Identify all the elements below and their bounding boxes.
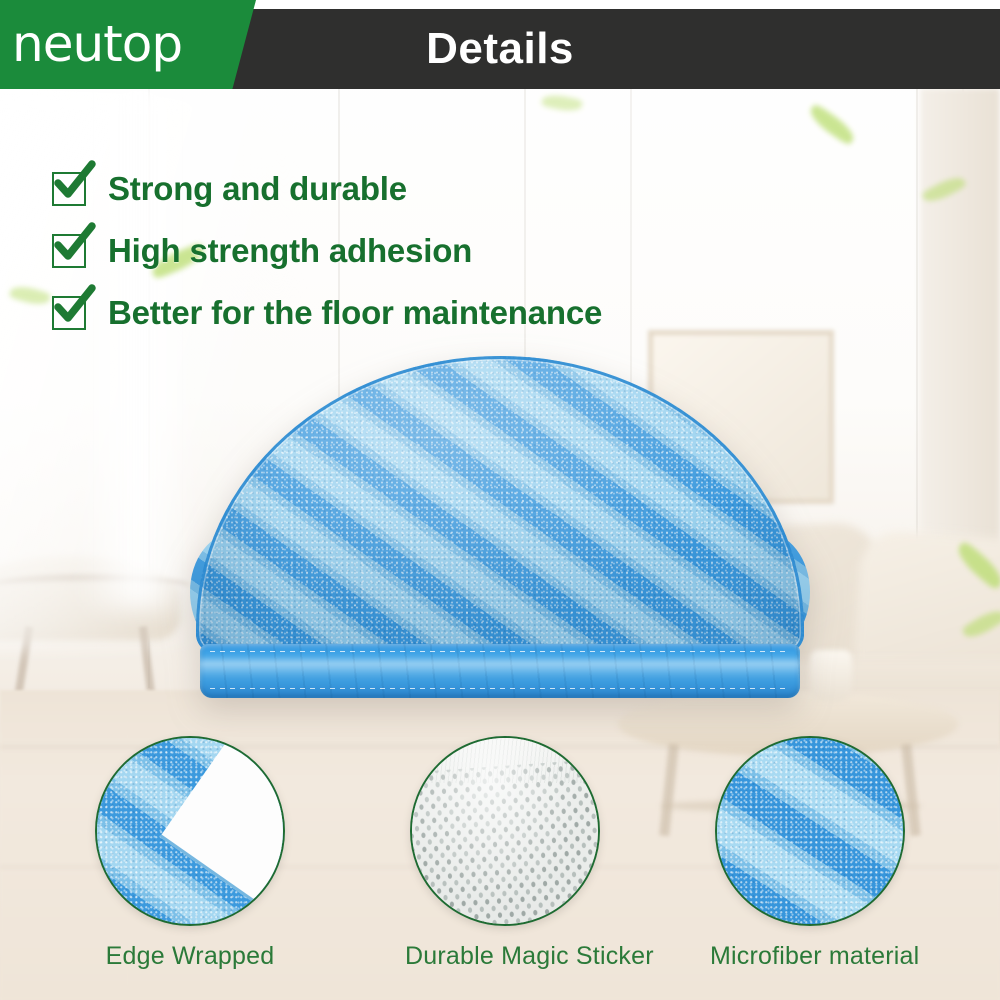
list-item: Better for the floor maintenance	[52, 282, 602, 344]
list-item: High strength adhesion	[52, 220, 602, 282]
closeup-circle-magic-sticker	[410, 736, 600, 926]
checkbox-check-icon	[52, 172, 86, 206]
product-detail-infographic: Details neutop Strong and durable High s…	[0, 0, 1000, 1000]
closeup-circle-edge-wrapped	[95, 736, 285, 926]
list-item: Strong and durable	[52, 158, 602, 220]
checkbox-check-icon	[52, 296, 86, 330]
velcro-highlight	[412, 738, 598, 924]
brand-logo-banner: neutop	[0, 0, 256, 89]
feature-label: Strong and durable	[108, 170, 407, 208]
detail-caption: Microfiber material	[710, 942, 910, 971]
detail-caption: Edge Wrapped	[90, 942, 290, 971]
feature-label: Better for the floor maintenance	[108, 294, 602, 332]
product-image-mop-pad	[196, 356, 804, 700]
hem-highlight	[200, 660, 800, 676]
hem-stitch-line	[210, 651, 790, 652]
hem-stitch-line	[210, 688, 790, 689]
detail-callout-microfiber: Microfiber material	[710, 736, 910, 971]
table-vase	[810, 650, 852, 702]
fabric-speckle-overlay	[715, 736, 905, 926]
hook-and-loop-surface	[412, 738, 598, 924]
brand-logo-text: neutop	[0, 15, 182, 73]
detail-callout-magic-sticker: Durable Magic Sticker	[405, 736, 605, 971]
feature-list: Strong and durable High strength adhesio…	[52, 158, 602, 344]
checkbox-check-icon	[52, 234, 86, 268]
detail-caption: Durable Magic Sticker	[405, 942, 605, 971]
feature-label: High strength adhesion	[108, 232, 472, 270]
pad-bottom-hem-band	[200, 644, 800, 698]
detail-callout-edge-wrapped: Edge Wrapped	[90, 736, 290, 971]
closeup-circle-microfiber	[715, 736, 905, 926]
fabric-weave-texture	[715, 736, 905, 926]
